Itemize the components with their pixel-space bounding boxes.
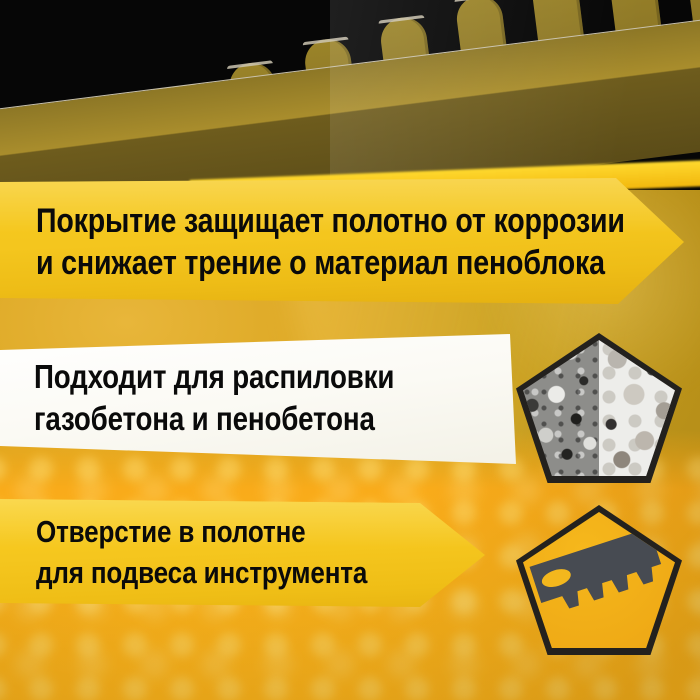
saw-blade-hero (0, 0, 700, 190)
banner-material: Подходит для распиловки газобетона и пен… (0, 330, 540, 490)
banner-hole: Отверстие в полотне для подвеса инструме… (0, 495, 500, 620)
banner-coating-line-1: Покрытие защищает полотно от коррозии (36, 200, 625, 242)
banner-hole-text-block: Отверстие в полотне для подвеса инструме… (36, 511, 430, 593)
banner-material-line-1: Подходит для распиловки (34, 356, 394, 398)
banner-coating-line-2: и снижает трение о материал пеноблока (36, 242, 625, 284)
saw-blade-with-hole-icon (523, 512, 675, 648)
aerated-concrete-texture-icon (523, 340, 675, 476)
banner-coating-text-block: Покрытие защищает полотно от коррозии и … (36, 200, 700, 284)
banner-material-text-block: Подходит для распиловки газобетона и пен… (34, 356, 463, 440)
poster-canvas: Покрытие защищает полотно от коррозии и … (0, 0, 700, 700)
badge-concrete (516, 333, 682, 483)
badge-blade-inner (523, 512, 675, 648)
banner-hole-line-2: для подвеса инструмента (36, 552, 367, 593)
banner-coating: Покрытие защищает полотно от коррозии и … (0, 178, 700, 308)
banner-material-line-2: газобетона и пенобетона (34, 398, 394, 440)
banner-hole-line-1: Отверстие в полотне (36, 511, 367, 552)
badge-blade-hole (516, 505, 682, 655)
